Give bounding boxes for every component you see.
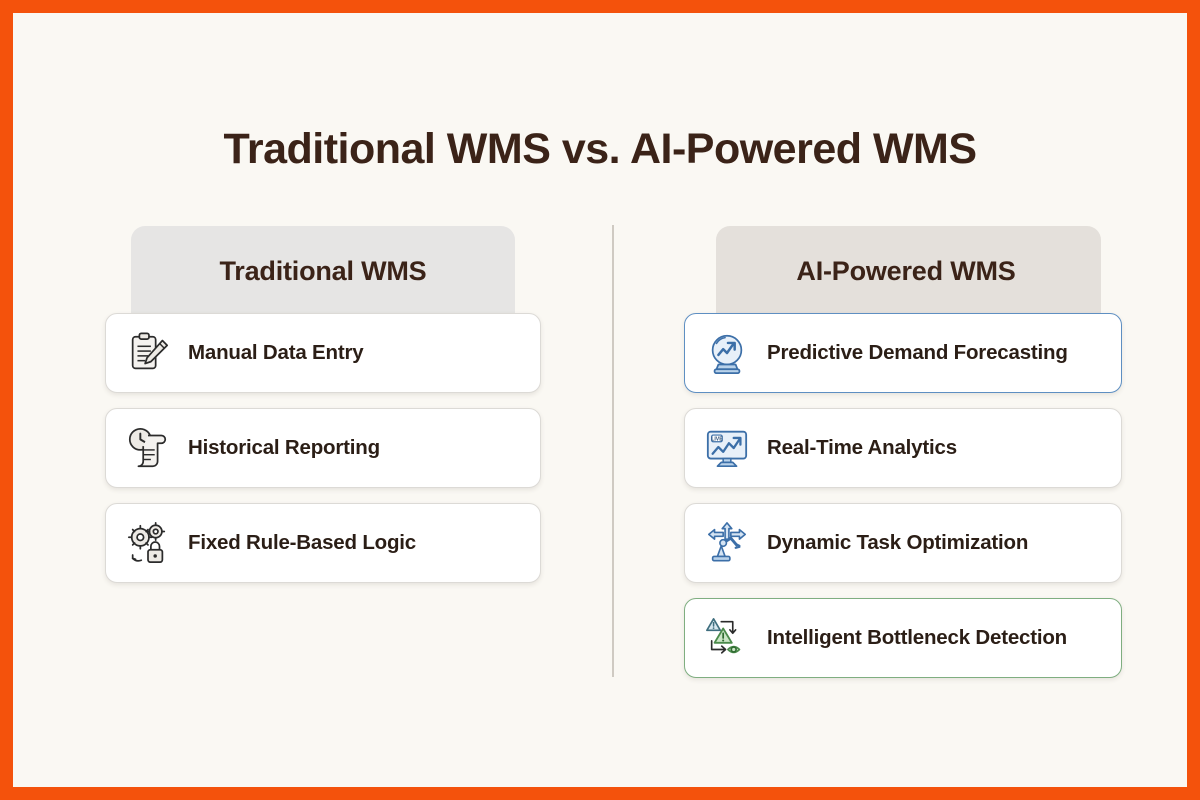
- column-ai-powered-wms: AI-Powered WMS Predictive Demand F: [676, 226, 1136, 678]
- traditional-feature-list: Manual Data Entry Historical Repo: [93, 313, 553, 583]
- robot-arm-arrows-icon: [703, 519, 751, 567]
- monitor-live-chart-icon: LIVE: [703, 424, 751, 472]
- orange-frame: Traditional WMS vs. AI-Powered WMS Tradi…: [0, 0, 1200, 800]
- clipboard-pencil-icon: [124, 329, 172, 377]
- gears-lock-icon: [124, 519, 172, 567]
- list-item[interactable]: Dynamic Task Optimization: [684, 503, 1122, 583]
- list-item-label: Real-Time Analytics: [767, 436, 957, 460]
- column-heading-ai-powered: AI-Powered WMS: [676, 226, 1136, 287]
- column-divider: [612, 225, 614, 677]
- list-item-label: Intelligent Bottleneck Detection: [767, 626, 1067, 650]
- list-item[interactable]: Historical Reporting: [105, 408, 541, 488]
- column-traditional-wms: Traditional WMS: [93, 226, 553, 583]
- list-item[interactable]: Intelligent Bottleneck Detection: [684, 598, 1122, 678]
- page-title: Traditional WMS vs. AI-Powered WMS: [13, 125, 1187, 174]
- list-item[interactable]: Predictive Demand Forecasting: [684, 313, 1122, 393]
- list-item[interactable]: LIVE Real-Time Analytics: [684, 408, 1122, 488]
- list-item-label: Dynamic Task Optimization: [767, 531, 1028, 555]
- list-item-label: Fixed Rule-Based Logic: [188, 531, 416, 555]
- crystal-ball-trend-icon: [703, 329, 751, 377]
- svg-text:LIVE: LIVE: [711, 436, 723, 442]
- list-item-label: Predictive Demand Forecasting: [767, 341, 1068, 365]
- list-item-label: Historical Reporting: [188, 436, 380, 460]
- list-item[interactable]: Manual Data Entry: [105, 313, 541, 393]
- clock-scroll-icon: [124, 424, 172, 472]
- infographic-canvas: Traditional WMS vs. AI-Powered WMS Tradi…: [13, 13, 1187, 787]
- ai-feature-list: Predictive Demand Forecasting LIVE: [676, 313, 1136, 678]
- column-heading-traditional: Traditional WMS: [93, 226, 553, 287]
- list-item-label: Manual Data Entry: [188, 341, 363, 365]
- list-item[interactable]: Fixed Rule-Based Logic: [105, 503, 541, 583]
- warning-eye-icon: [703, 614, 751, 662]
